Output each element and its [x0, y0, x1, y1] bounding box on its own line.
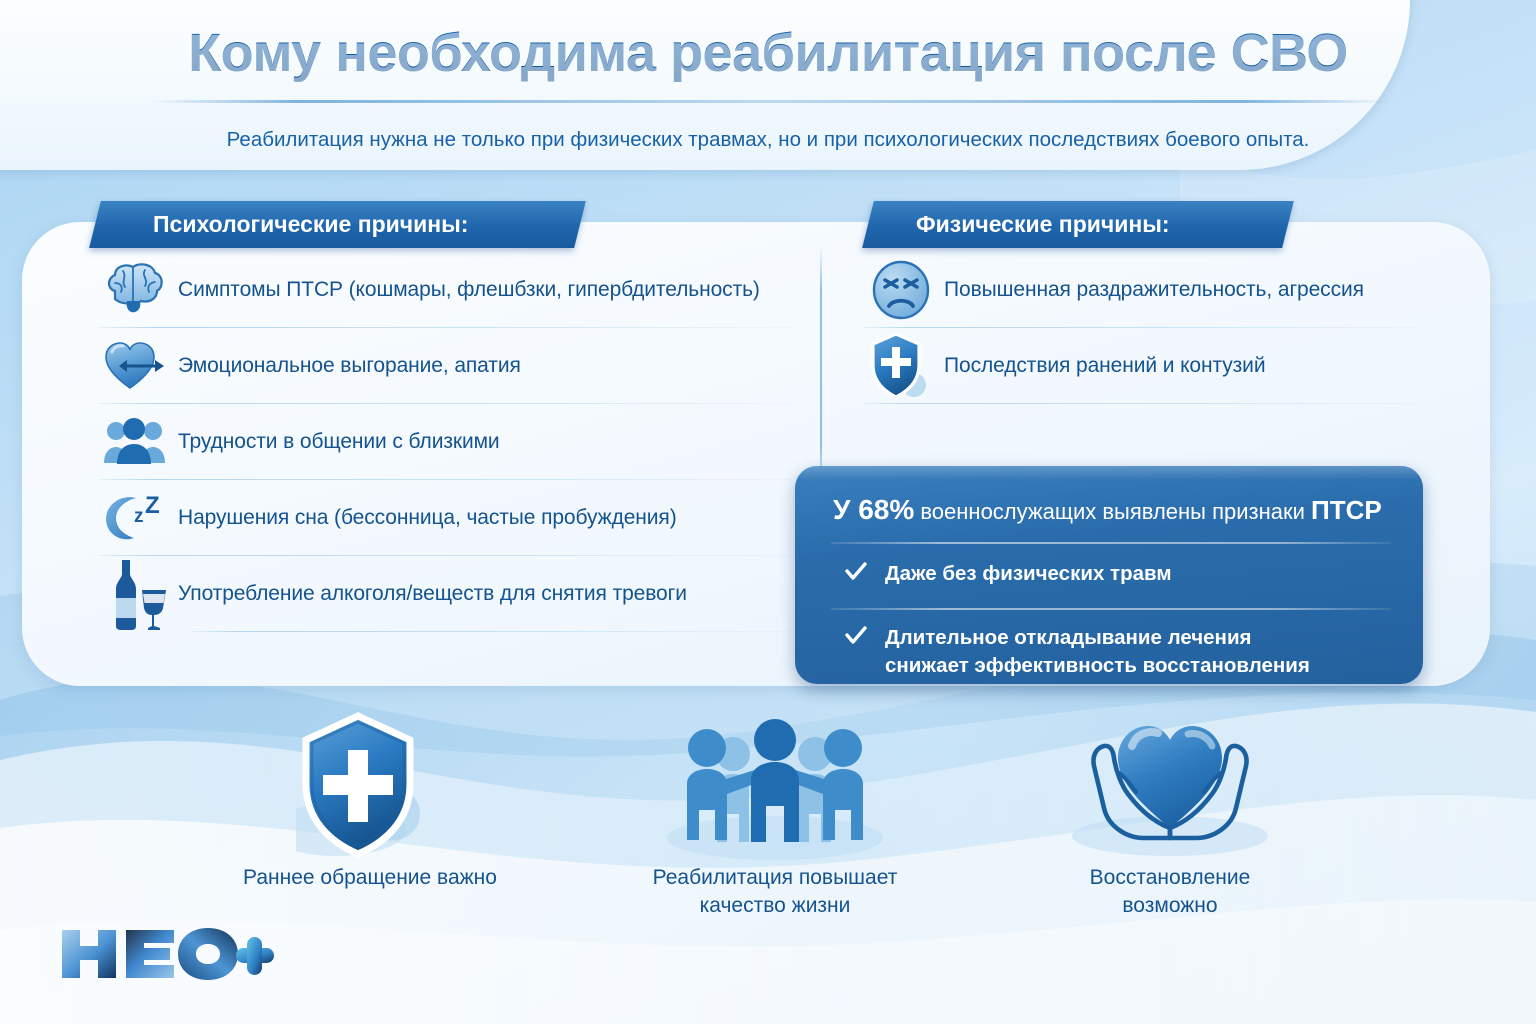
bottle-glass-icon — [92, 556, 178, 632]
list-item-label: Эмоциональное выгорание, апатия — [178, 354, 521, 378]
list-item-label: Нарушения сна (бессонница, частые пробуж… — [178, 506, 677, 530]
svg-text:Z: Z — [145, 492, 160, 519]
statistic-divider — [831, 608, 1391, 610]
hands-heart-icon — [985, 710, 1355, 860]
logo[interactable] — [58, 922, 274, 989]
list-item-label: Трудности в общении с близкими — [178, 430, 500, 454]
statistic-bullet-label: Даже без физических травм — [885, 560, 1172, 588]
shield-cross-icon — [185, 710, 555, 860]
statistic-divider — [831, 542, 1391, 544]
list-divider — [864, 403, 1418, 404]
section-header-physical: Физические причины: — [862, 201, 1294, 248]
title-divider — [150, 100, 1390, 103]
list-item-label: Симптомы ПТСР (кошмары, флешбзки, гиперб… — [178, 278, 760, 302]
svg-text:z: z — [134, 506, 144, 527]
brain-icon — [92, 261, 178, 319]
list-item-label: Последствия ранений и контузий — [944, 354, 1265, 378]
list-item-label: Употребление алкоголя/веществ для снятия… — [178, 582, 687, 606]
statistic-bullet: Даже без физических травм — [845, 560, 1172, 588]
statistic-bullet: Длительное откладывание лечения снижает … — [845, 624, 1310, 680]
physical-causes-list: Повышенная раздражительность, агрессия П… — [858, 252, 1418, 404]
benefit-label: Восстановление возможно — [985, 864, 1355, 920]
list-item[interactable]: Употребление алкоголя/веществ для снятия… — [92, 556, 792, 632]
check-icon — [845, 626, 867, 651]
statistic-prefix: У — [833, 494, 858, 525]
section-header-physical-label: Физические причины: — [916, 211, 1170, 238]
angry-face-icon — [858, 259, 944, 321]
section-header-psychological-label: Психологические причины: — [153, 211, 468, 238]
list-item[interactable]: Трудности в общении с близкими — [92, 404, 792, 480]
moon-sleep-icon: z Z — [92, 490, 178, 546]
statistic-suffix: ПТСР — [1311, 495, 1382, 525]
statistic-headline: У 68% военнослужащих выявлены признаки П… — [833, 494, 1382, 526]
statistic-bullet-label: Длительное откладывание лечения снижает … — [885, 624, 1310, 680]
benefit-item: Восстановление возможно — [985, 710, 1355, 920]
section-header-psychological: Психологические причины: — [89, 201, 586, 248]
benefit-item: Реабилитация повышает качество жизни — [590, 710, 960, 920]
list-item[interactable]: Последствия ранений и контузий — [858, 328, 1418, 404]
people-group-icon — [590, 710, 960, 860]
list-item-label: Повышенная раздражительность, агрессия — [944, 278, 1364, 302]
list-item[interactable]: Эмоциональное выгорание, апатия — [92, 328, 792, 404]
statistic-value: 68% — [858, 494, 914, 525]
column-divider — [820, 246, 822, 496]
benefit-item: Раннее обращение важно — [185, 710, 555, 892]
check-icon — [845, 562, 867, 587]
psychological-causes-list: Симптомы ПТСР (кошмары, флешбзки, гиперб… — [92, 252, 792, 632]
people-group-icon — [92, 417, 178, 467]
benefits-row: Раннее обращение важно — [0, 700, 1536, 940]
benefit-label: Раннее обращение важно — [185, 864, 555, 892]
page-title: Кому необходима реабилитация после СВО — [0, 22, 1536, 84]
list-item[interactable]: Симптомы ПТСР (кошмары, флешбзки, гиперб… — [92, 252, 792, 328]
list-divider — [192, 631, 792, 632]
heart-arrow-icon — [92, 338, 178, 394]
statistic-middle: военнослужащих выявлены признаки — [914, 499, 1311, 524]
shield-cross-icon — [858, 331, 944, 401]
statistic-callout-box: У 68% военнослужащих выявлены признаки П… — [795, 466, 1423, 684]
list-item[interactable]: Повышенная раздражительность, агрессия — [858, 252, 1418, 328]
infographic-canvas: Кому необходима реабилитация после СВО Р… — [0, 0, 1536, 1024]
page-subtitle: Реабилитация нужна не только при физичес… — [0, 128, 1536, 152]
list-item[interactable]: z Z Нарушения сна (бессонница, частые пр… — [92, 480, 792, 556]
benefit-label: Реабилитация повышает качество жизни — [590, 864, 960, 920]
